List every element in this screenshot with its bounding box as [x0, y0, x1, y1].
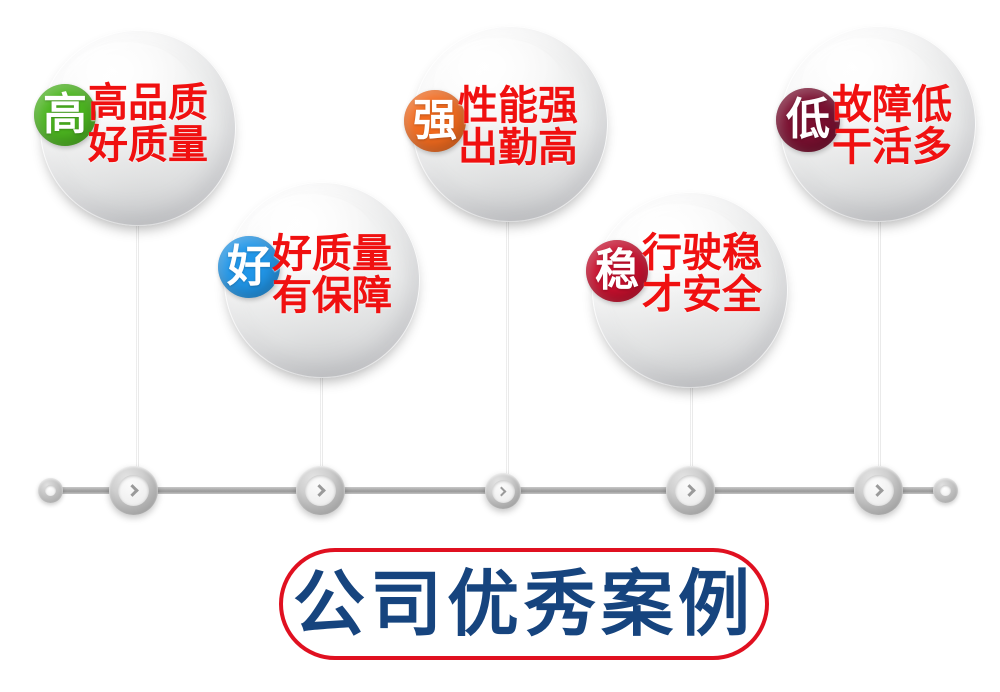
slogan-line-2: 好质量 — [88, 124, 208, 166]
badge-low: 低 — [776, 88, 840, 152]
slogan-line-2: 干活多 — [832, 126, 952, 168]
timeline-node-2[interactable] — [296, 466, 345, 515]
timeline-node-3[interactable] — [485, 473, 521, 509]
company-cases-title-plate: 公司优秀案例 — [279, 548, 769, 660]
timeline-endcap-right — [933, 478, 958, 503]
chevron-right-icon — [871, 484, 884, 497]
page-title: 公司优秀案例 — [293, 568, 755, 640]
stem-bubble-5 — [878, 222, 881, 490]
slogan-low-failure: 故障低 干活多 — [832, 84, 952, 169]
node-inner — [675, 475, 706, 506]
endcap-hole — [45, 485, 56, 496]
chevron-right-icon — [313, 484, 326, 497]
slogan-line-1: 好质量 — [272, 232, 392, 276]
node-inner — [492, 480, 515, 503]
stem-bubble-3 — [506, 222, 509, 490]
chevron-right-icon — [497, 486, 507, 496]
timeline-node-4[interactable] — [666, 466, 715, 515]
node-inner — [305, 475, 336, 506]
badge-good: 好 — [218, 236, 280, 298]
slogan-strong-performance: 性能强 出勤高 — [458, 85, 578, 170]
timeline-endcap-left — [38, 478, 63, 503]
slogan-stable-driving: 行驶稳 才安全 — [642, 232, 762, 317]
slogan-line-1: 行驶稳 — [642, 231, 762, 275]
slogan-high-quality: 高品质 好质量 — [88, 82, 208, 167]
slogan-line-1: 高品质 — [88, 81, 208, 125]
timeline-node-1[interactable] — [109, 466, 158, 515]
infographic-canvas: 高 高品质 好质量 好 好质量 有保障 强 性能强 出勤高 稳 行驶稳 才安全 … — [0, 0, 1000, 692]
badge-high: 高 — [34, 84, 96, 146]
stem-bubble-1 — [136, 226, 139, 490]
chevron-right-icon — [683, 484, 696, 497]
node-inner — [118, 475, 149, 506]
node-inner — [863, 475, 894, 506]
slogan-line-2: 才安全 — [642, 274, 762, 316]
slogan-line-1: 故障低 — [832, 83, 952, 127]
slogan-good-quality: 好质量 有保障 — [272, 233, 392, 318]
badge-strong: 强 — [404, 90, 466, 152]
badge-stable: 稳 — [586, 240, 648, 302]
slogan-line-2: 出勤高 — [458, 127, 578, 169]
slogan-line-1: 性能强 — [458, 84, 578, 128]
timeline-node-5[interactable] — [854, 466, 903, 515]
chevron-right-icon — [126, 484, 139, 497]
slogan-line-2: 有保障 — [272, 275, 392, 317]
endcap-hole — [940, 485, 951, 496]
